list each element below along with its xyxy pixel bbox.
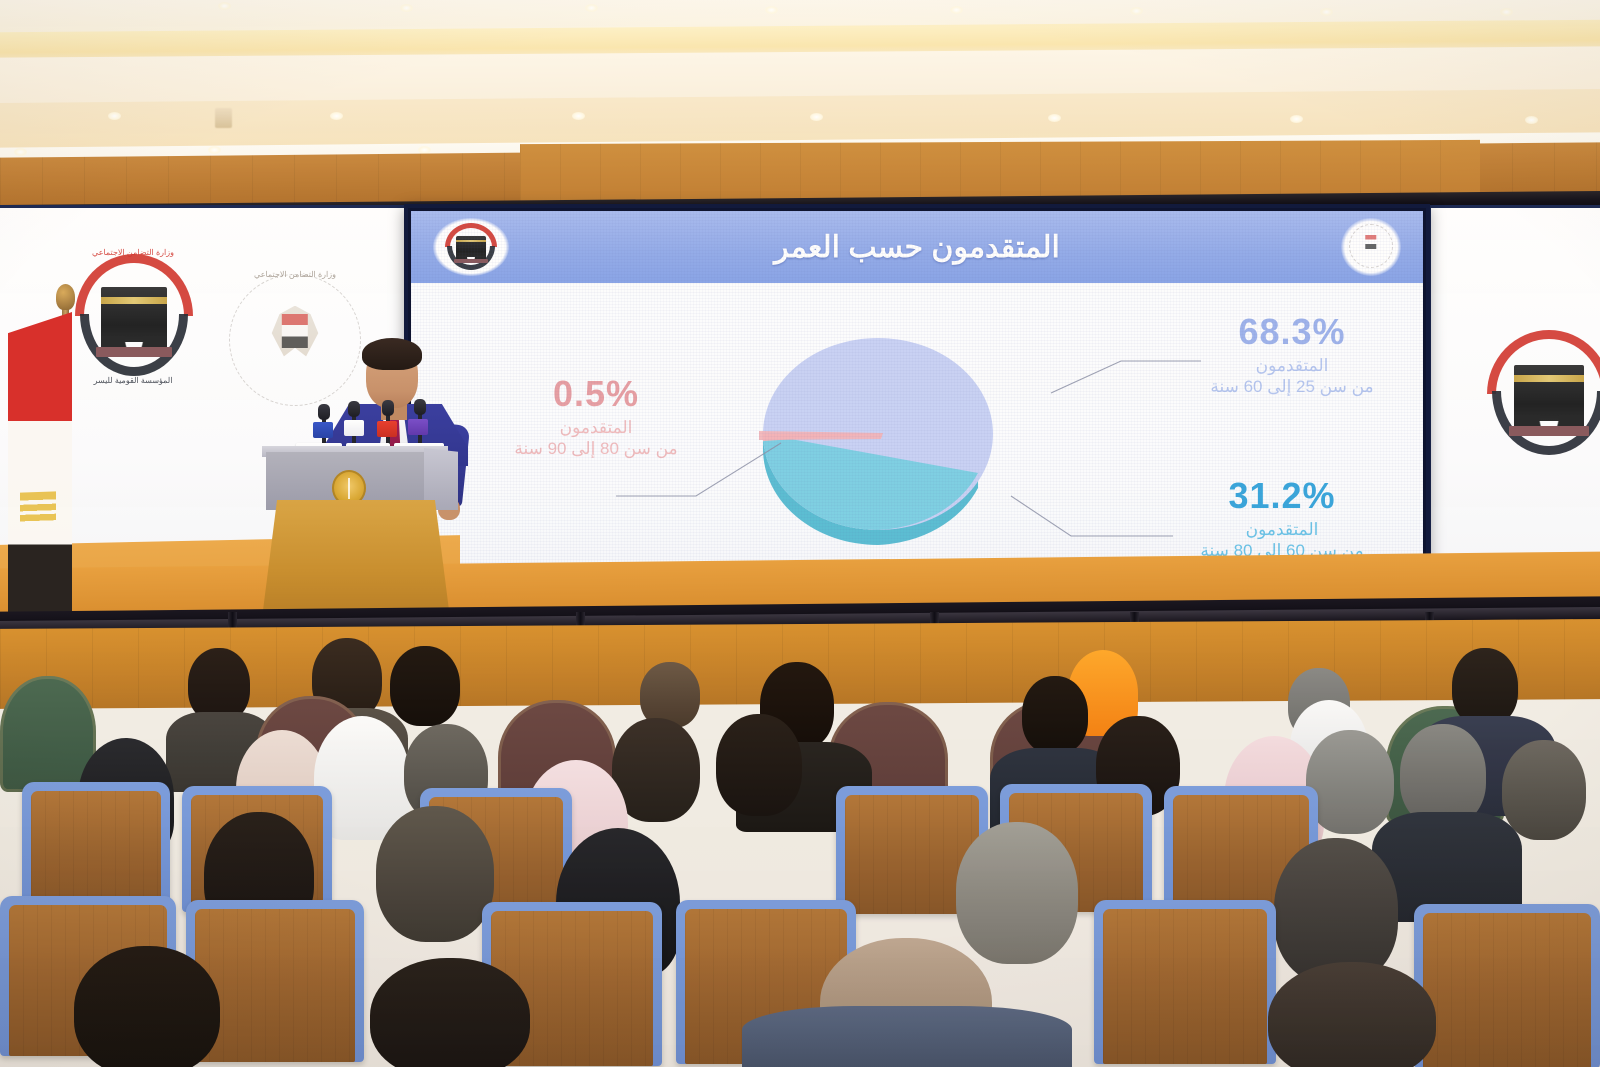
logo-arc-bottom-text: المؤسسة القومية لليسر	[53, 376, 213, 385]
press-mic-flag	[313, 422, 333, 438]
chair-back-pad	[195, 909, 355, 1062]
ceiling-downlight	[585, 4, 598, 12]
audience-head	[716, 714, 802, 816]
stat-percent: 0.5%	[473, 371, 719, 416]
audience-head	[376, 806, 494, 942]
ceiling-downlight	[208, 146, 221, 154]
audience-head	[1452, 648, 1518, 726]
stat-callout-60-80: 31.2% المتقدمون من سن 60 إلى 80 سنة	[1151, 473, 1413, 562]
press-mic-flag	[377, 421, 397, 437]
ceiling-downlight	[1290, 115, 1303, 123]
ceiling-downlight	[14, 148, 27, 156]
leader-line-31	[1011, 496, 1173, 536]
microphone-head	[382, 400, 394, 416]
chair-back-pad	[31, 791, 161, 908]
stat-label-line1: المتقدمون	[1167, 355, 1417, 376]
ceiling-downlight	[218, 2, 231, 10]
eagle-of-saladin-icon	[20, 491, 56, 528]
audience-head	[1502, 740, 1586, 840]
press-mic-flag	[344, 420, 364, 436]
stat-percent: 31.2%	[1151, 473, 1413, 518]
ministry-seal-icon	[1341, 218, 1401, 276]
slide-title: المتقدمون حسب العمر	[774, 230, 1060, 265]
ceiling-downlight	[400, 4, 413, 12]
ceiling-speaker	[215, 108, 232, 128]
microphone-head	[414, 399, 426, 415]
stat-callout-80-90: 0.5% المتقدمون من سن 80 إلى 90 سنة	[473, 371, 719, 460]
ministry-emblem-watermark: وزارة التضامن الاجتماعي	[229, 274, 361, 406]
pie-chart	[733, 323, 1023, 553]
presentation-slide: المتقدمون حسب العمر	[411, 211, 1423, 611]
stat-callout-25-60: 68.3% المتقدمون من سن 25 إلى 60 سنة	[1167, 309, 1417, 398]
emblem-arc-text: وزارة التضامن الاجتماعي	[229, 270, 361, 279]
audience-head	[74, 946, 220, 1067]
audience-head	[956, 822, 1078, 964]
audience-head	[1268, 962, 1436, 1067]
audience-chair	[1414, 904, 1600, 1067]
stat-percent: 68.3%	[1167, 309, 1417, 354]
podium-wooden-base	[262, 500, 450, 618]
ceiling-downlight	[572, 112, 585, 120]
audience-head	[1400, 724, 1486, 826]
ceiling-downlight	[1525, 116, 1538, 124]
audience-head	[370, 958, 530, 1067]
ceiling-downlight	[1500, 8, 1513, 16]
chair-back-pad	[1103, 909, 1267, 1064]
audience-body	[742, 1006, 1072, 1067]
ceiling-downlight	[1048, 114, 1061, 122]
microphone-head	[318, 404, 330, 420]
kaaba-cube-icon	[101, 287, 167, 342]
stat-label-line2: من سن 25 إلى 60 سنة	[1167, 376, 1417, 397]
conference-hall-scene: وزارة التضامن الاجتماعي المؤسسة القومية …	[0, 0, 1600, 1067]
audience-head	[188, 648, 250, 722]
audience-head	[1022, 676, 1088, 754]
flag-finial	[56, 284, 75, 310]
kaaba-hajj-logo	[1487, 330, 1600, 458]
audience-chair	[22, 782, 170, 908]
emblem-flag-stripe	[282, 314, 308, 348]
stat-label-line1: المتقدمون	[473, 417, 719, 438]
ceiling-downlight	[765, 6, 778, 14]
logo-arc-top-text: وزارة التضامن الاجتماعي	[53, 248, 213, 257]
kaaba-cube-icon	[1514, 365, 1583, 421]
chair-back-pad	[1423, 913, 1591, 1067]
stat-label-line1: المتقدمون	[1151, 519, 1413, 540]
audience-head	[1306, 730, 1394, 834]
stat-label-line2: من سن 80 إلى 90 سنة	[473, 438, 719, 459]
ceiling-downlight	[108, 112, 121, 120]
ceiling-downlight	[1320, 8, 1333, 16]
speaker-hair	[362, 338, 422, 370]
audience-chair	[1094, 900, 1276, 1064]
microphone-head	[348, 401, 360, 417]
kaaba-hajj-logo	[75, 254, 193, 378]
kaaba-base	[96, 347, 172, 357]
ceiling-downlight	[810, 113, 823, 121]
kaaba-base	[1509, 426, 1588, 436]
ceiling-downlight	[950, 6, 963, 14]
ceiling-downlight	[1130, 7, 1143, 15]
pie-chart-svg	[733, 323, 1023, 553]
audience-head	[390, 646, 460, 726]
slide-header-bar: المتقدمون حسب العمر	[411, 211, 1423, 283]
press-mic-flag	[408, 419, 428, 435]
ceiling-downlight	[330, 112, 343, 120]
kaaba-hajj-logo-icon	[433, 218, 509, 276]
